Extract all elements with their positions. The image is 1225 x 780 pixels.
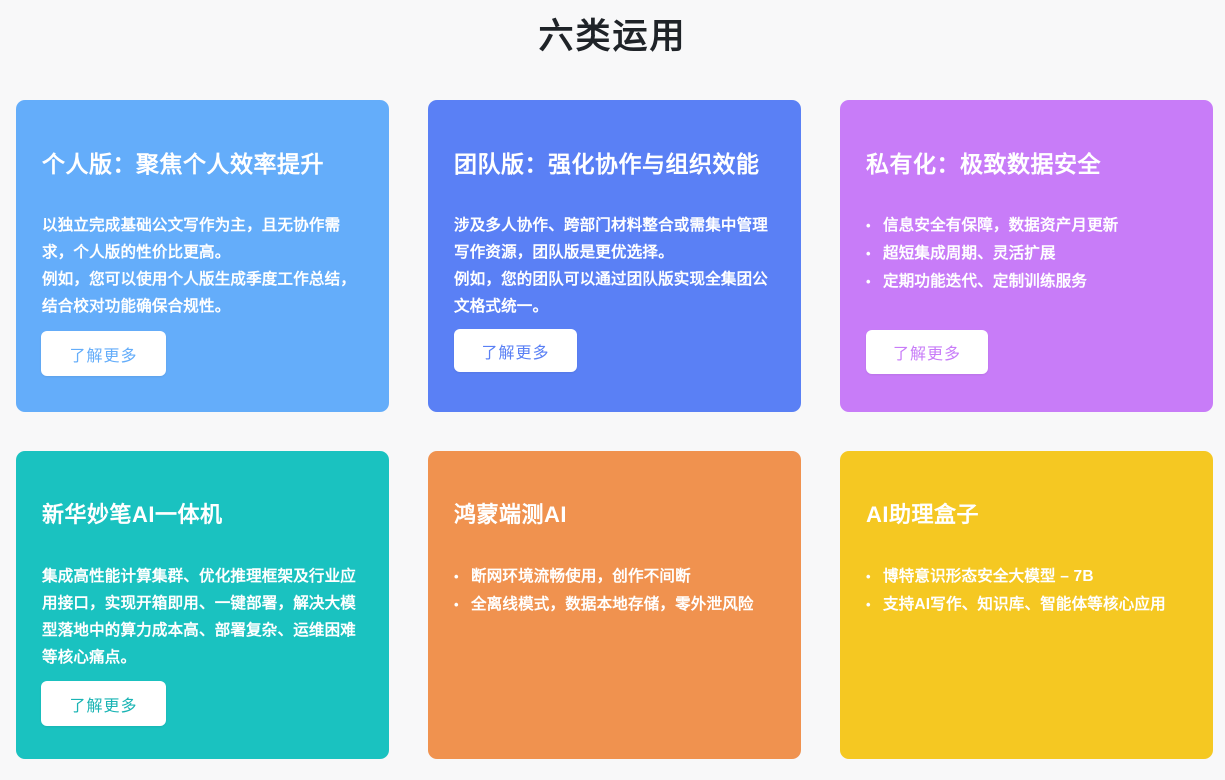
card-body: 集成高性能计算集群、优化推理框架及行业应 用接口，实现开箱即用、一键部署，解决大… [42,563,363,671]
card-body-line: 涉及多人协作、跨部门材料整合或需集中管理 [454,212,775,239]
bullet-dot-icon: • [866,591,871,619]
card-title: 私有化：极致数据安全 [866,148,1187,180]
card-title: 团队版：强化协作与组织效能 [454,148,775,180]
cards-grid: 个人版：聚焦个人效率提升 以独立完成基础公文写作为主，且无协作需 求，个人版的性… [16,100,1211,759]
learn-more-button[interactable]: 了解更多 [41,331,166,376]
card-bullet-list: •断网环境流畅使用，创作不间断 •全离线模式，数据本地存储，零外泄风险 [454,563,775,619]
list-item-label: 支持AI写作、知识库、智能体等核心应用 [883,596,1166,613]
card-body-line: 结合校对功能确保合规性。 [42,293,363,320]
card-ai-assistant-box[interactable]: AI助理盒子 •博特意识形态安全大模型 – 7B •支持AI写作、知识库、智能体… [840,451,1213,759]
card-body-line: 等核心痛点。 [42,644,363,671]
card-body: 以独立完成基础公文写作为主，且无协作需 求，个人版的性价比更高。 例如，您可以使… [42,212,363,320]
bullet-dot-icon: • [866,268,871,296]
bullet-dot-icon: • [866,212,871,240]
card-body-line: 求，个人版的性价比更高。 [42,239,363,266]
list-item: •定期功能迭代、定制训练服务 [866,268,1187,296]
card-body-line: 例如，您的团队可以通过团队版实现全集团公 [454,266,775,293]
card-body-line: 文格式统一。 [454,293,775,320]
learn-more-button[interactable]: 了解更多 [866,330,988,374]
card-bullet-list: •博特意识形态安全大模型 – 7B •支持AI写作、知识库、智能体等核心应用 [866,563,1187,619]
card-private-deployment[interactable]: 私有化：极致数据安全 •信息安全有保障，数据资产月更新 •超短集成周期、灵活扩展… [840,100,1213,412]
card-title: 新华妙笔AI一体机 [42,499,363,531]
bullet-dot-icon: • [866,563,871,591]
bullet-dot-icon: • [454,591,459,619]
learn-more-button[interactable]: 了解更多 [41,681,166,726]
learn-more-button[interactable]: 了解更多 [454,329,577,372]
card-body-line: 型落地中的算力成本高、部署复杂、运维困难 [42,617,363,644]
card-title: AI助理盒子 [866,499,1187,531]
card-bullet-list: •信息安全有保障，数据资产月更新 •超短集成周期、灵活扩展 •定期功能迭代、定制… [866,212,1187,296]
card-personal-edition[interactable]: 个人版：聚焦个人效率提升 以独立完成基础公文写作为主，且无协作需 求，个人版的性… [16,100,389,412]
list-item: •信息安全有保障，数据资产月更新 [866,212,1187,240]
list-item: •断网环境流畅使用，创作不间断 [454,563,775,591]
list-item-label: 断网环境流畅使用，创作不间断 [471,568,691,585]
card-title: 个人版：聚焦个人效率提升 [42,148,363,180]
list-item: •全离线模式，数据本地存储，零外泄风险 [454,591,775,619]
card-xinhua-miaobi-ai-appliance[interactable]: 新华妙笔AI一体机 集成高性能计算集群、优化推理框架及行业应 用接口，实现开箱即… [16,451,389,759]
card-body-line: 例如，您可以使用个人版生成季度工作总结， [42,266,363,293]
list-item-label: 博特意识形态安全大模型 – 7B [883,568,1094,585]
card-team-edition[interactable]: 团队版：强化协作与组织效能 涉及多人协作、跨部门材料整合或需集中管理 写作资源，… [428,100,801,412]
list-item: •超短集成周期、灵活扩展 [866,240,1187,268]
list-item-label: 超短集成周期、灵活扩展 [883,245,1056,262]
card-body-line: 用接口，实现开箱即用、一键部署，解决大模 [42,590,363,617]
list-item-label: 定期功能迭代、定制训练服务 [883,273,1087,290]
card-harmony-edge-ai[interactable]: 鸿蒙端测AI •断网环境流畅使用，创作不间断 •全离线模式，数据本地存储，零外泄… [428,451,801,759]
card-body-line: 以独立完成基础公文写作为主，且无协作需 [42,212,363,239]
list-item: •支持AI写作、知识库、智能体等核心应用 [866,591,1187,619]
card-body-line: 集成高性能计算集群、优化推理框架及行业应 [42,563,363,590]
card-body: 涉及多人协作、跨部门材料整合或需集中管理 写作资源，团队版是更优选择。 例如，您… [454,212,775,320]
page-root: 六类运用 个人版：聚焦个人效率提升 以独立完成基础公文写作为主，且无协作需 求，… [0,0,1225,780]
list-item: •博特意识形态安全大模型 – 7B [866,563,1187,591]
list-item-label: 全离线模式，数据本地存储，零外泄风险 [471,596,754,613]
card-body-line: 写作资源，团队版是更优选择。 [454,239,775,266]
list-item-label: 信息安全有保障，数据资产月更新 [883,217,1119,234]
bullet-dot-icon: • [866,240,871,268]
card-title: 鸿蒙端测AI [454,499,775,531]
bullet-dot-icon: • [454,563,459,591]
page-title: 六类运用 [0,13,1225,61]
